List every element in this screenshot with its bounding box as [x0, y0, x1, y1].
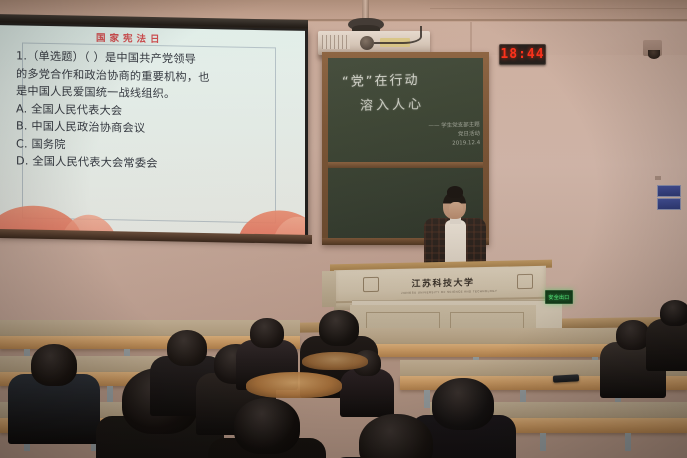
student-11-head — [616, 320, 650, 350]
projector-cable — [374, 26, 422, 44]
student-7-head — [234, 398, 300, 454]
student-1-head — [31, 344, 77, 386]
podium-logo-chinese: 江苏科技大学 — [401, 275, 485, 290]
presenter-hair-bun — [447, 186, 463, 198]
podium-emblem-icon — [363, 277, 379, 292]
wall-sign-blue — [657, 185, 681, 197]
ceiling-seam-secondary — [430, 8, 687, 9]
slide-title: 国家宪法日 — [96, 30, 164, 45]
presenter-shirt — [445, 220, 466, 266]
camera-dome-icon — [648, 50, 660, 59]
bench-row-6-leg — [540, 433, 546, 451]
coat-fur-hood — [246, 372, 342, 398]
student-12-head — [660, 300, 687, 326]
chalk-heading-line-2: 溶入人心 — [360, 93, 424, 114]
podium-university-logo: 江苏科技大学 JIANGSU UNIVERSITY OF SCIENCE AND… — [401, 275, 485, 295]
bench-row-6-leg — [625, 433, 631, 451]
presenter-face — [449, 202, 463, 218]
student-10 — [330, 414, 462, 458]
clock-time: 18:44 — [500, 48, 544, 61]
wall-fixture — [655, 176, 661, 180]
student-12 — [646, 300, 687, 378]
student-5-head — [250, 318, 284, 348]
blackboard-divider — [328, 162, 483, 168]
student-10-head — [359, 414, 433, 458]
student-7 — [208, 398, 326, 458]
smartphone-on-desk — [553, 374, 579, 382]
podium-emblem-icon — [517, 274, 533, 289]
projector-lens-icon — [360, 36, 374, 50]
emergency-exit-sign: 安全出口 — [545, 290, 573, 304]
chalk-signature: —— 学生党支部主题 党日活动 2019.12.4 — [404, 121, 481, 150]
lecture-hall-photo: 18:44 国家宪法日 1.（单选题）（ ）是中国共产党领导 的多党合作和政治协… — [0, 0, 687, 458]
projection-screen: 国家宪法日 1.（单选题）（ ）是中国共产党领导 的多党合作和政治协商的重要机构… — [0, 25, 305, 237]
wall-sign-blue — [657, 198, 681, 210]
student-6-head — [319, 310, 359, 346]
chalk-heading-line-1: “党”在行动 — [342, 69, 420, 90]
coat-fur-hood — [302, 352, 368, 370]
exit-sign-label: 安全出口 — [548, 294, 569, 301]
podium-side-panel — [322, 271, 336, 307]
slide-body: 1.（单选题）（ ）是中国共产党领导 的多党合作和政治协商的重要机构，也 是中国… — [16, 47, 288, 175]
wall-clock: 18:44 — [499, 44, 546, 65]
projector-vent — [322, 35, 350, 49]
student-12-body — [646, 319, 687, 371]
student-1 — [8, 344, 100, 456]
